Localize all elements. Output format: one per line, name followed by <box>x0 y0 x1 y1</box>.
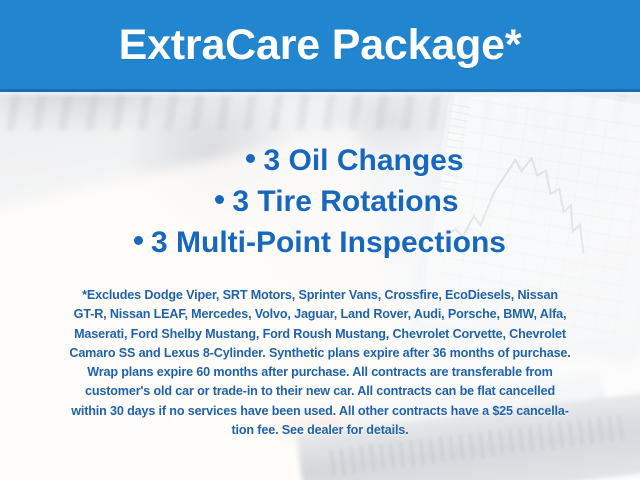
benefit-label: 3 Oil Changes <box>263 144 463 177</box>
disclaimer-line: *Excludes Dodge Viper, SRT Motors, Sprin… <box>22 286 618 305</box>
list-item: 3 Tire Rotations <box>0 181 640 222</box>
disclaimer-line: Maserati, Ford Shelby Mustang, Ford Rous… <box>22 325 618 344</box>
bullet-dot-icon <box>215 195 224 204</box>
disclaimer-line: Wrap plans expire 60 months after purcha… <box>22 363 618 382</box>
list-item: 3 Multi-Point Inspections <box>0 222 640 263</box>
disclaimer-line: customer's old car or trade-in to their … <box>22 382 618 401</box>
disclaimer-line: tion fee. See dealer for details. <box>22 421 618 440</box>
extracare-promo-card: ExtraCare Package* 3 Oil Changes 3 Tire … <box>0 0 640 480</box>
disclaimer-text: *Excludes Dodge Viper, SRT Motors, Sprin… <box>22 286 618 440</box>
benefit-label: 3 Tire Rotations <box>232 185 458 218</box>
header-band: ExtraCare Package* <box>0 0 640 89</box>
list-item: 3 Oil Changes <box>0 140 640 181</box>
disclaimer-line: GT-R, Nissan LEAF, Mercedes, Volvo, Jagu… <box>22 305 618 324</box>
disclaimer-line: Camaro SS and Lexus 8-Cylinder. Syntheti… <box>22 344 618 363</box>
benefits-list: 3 Oil Changes 3 Tire Rotations 3 Multi-P… <box>0 140 640 263</box>
bullet-dot-icon <box>134 236 143 245</box>
header-fade-edge <box>0 92 640 98</box>
disclaimer-line: within 30 days if no services have been … <box>22 402 618 421</box>
bullet-dot-icon <box>246 154 255 163</box>
page-title: ExtraCare Package* <box>119 24 522 67</box>
benefit-label: 3 Multi-Point Inspections <box>151 226 506 259</box>
